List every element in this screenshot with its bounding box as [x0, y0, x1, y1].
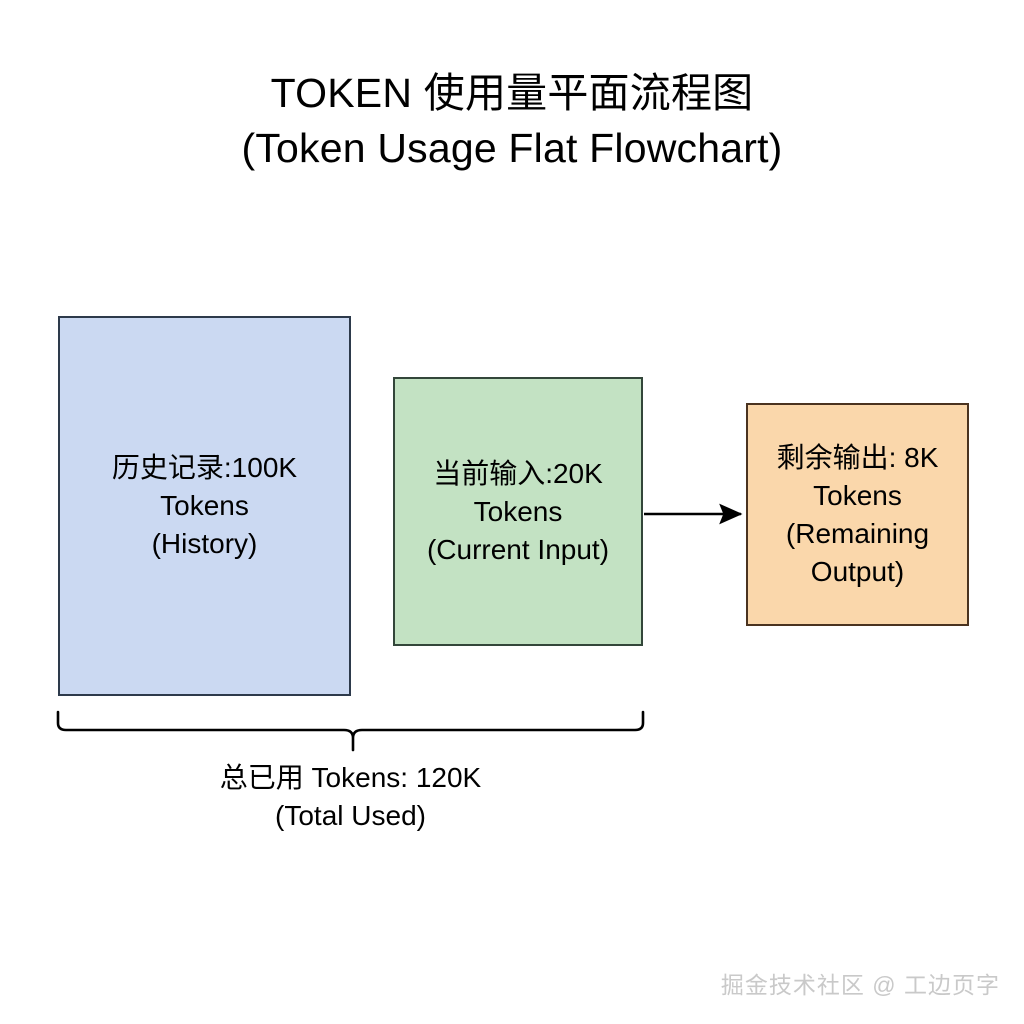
node-remaining-output[interactable]: 剩余输出: 8K Tokens (Remaining Output) [746, 403, 969, 626]
node-remaining-output-line1: 剩余输出: 8K [777, 439, 939, 477]
node-current-input[interactable]: 当前输入:20K Tokens (Current Input) [393, 377, 643, 646]
node-history-line1: 历史记录:100K [112, 449, 297, 487]
node-current-input-line2: Tokens [427, 493, 609, 531]
node-current-input-text: 当前输入:20K Tokens (Current Input) [421, 455, 615, 569]
node-remaining-output-line2: Tokens [777, 477, 939, 515]
watermark: 掘金技术社区 @ 工边页字 [721, 970, 1000, 1000]
total-used-label: 总已用 Tokens: 120K (Total Used) [58, 759, 643, 835]
total-used-brace [58, 712, 643, 750]
total-used-line2: (Total Used) [58, 797, 643, 835]
node-history-line2: Tokens [112, 487, 297, 525]
node-history[interactable]: 历史记录:100K Tokens (History) [58, 316, 351, 696]
node-remaining-output-line3: (Remaining [777, 515, 939, 553]
node-current-input-line1: 当前输入:20K [427, 455, 609, 493]
node-current-input-line3: (Current Input) [427, 531, 609, 569]
node-history-line3: (History) [112, 525, 297, 563]
flowchart-canvas: TOKEN 使用量平面流程图 (Token Usage Flat Flowcha… [0, 0, 1024, 1024]
node-history-text: 历史记录:100K Tokens (History) [106, 449, 303, 563]
title-line-chinese: TOKEN 使用量平面流程图 [0, 66, 1024, 121]
page-title: TOKEN 使用量平面流程图 (Token Usage Flat Flowcha… [0, 66, 1024, 176]
title-line-english: (Token Usage Flat Flowchart) [0, 121, 1024, 176]
total-used-line1: 总已用 Tokens: 120K [58, 759, 643, 797]
node-remaining-output-line4: Output) [777, 553, 939, 591]
node-remaining-output-text: 剩余输出: 8K Tokens (Remaining Output) [771, 439, 945, 591]
